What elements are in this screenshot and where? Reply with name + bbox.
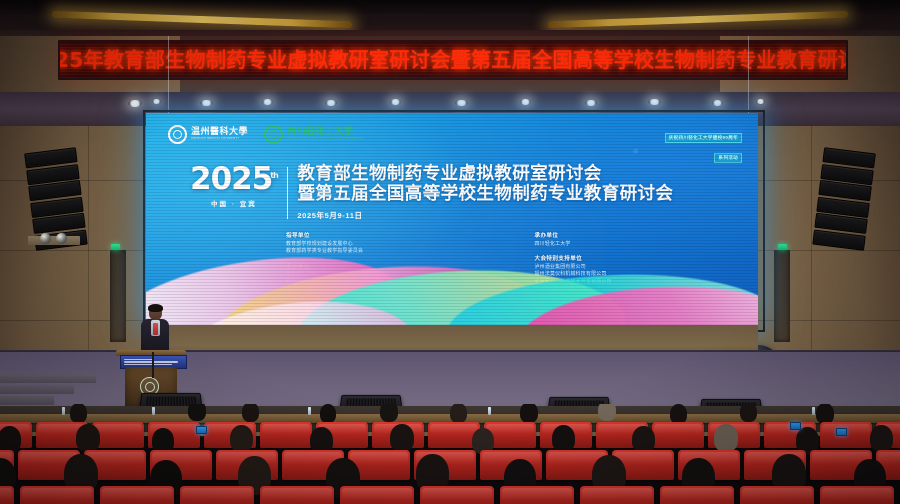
- downlight: [390, 99, 401, 105]
- downlight: [585, 100, 597, 106]
- downlight: [152, 99, 161, 104]
- downlight: [712, 100, 723, 106]
- audience-head: [598, 404, 616, 421]
- downlight: [128, 100, 142, 107]
- audience-head: [242, 404, 259, 422]
- wall-recess-right: [774, 250, 790, 342]
- audience-head: [76, 424, 100, 452]
- phone-screen: [836, 428, 847, 436]
- presenter-lanyard: [153, 323, 158, 335]
- ceiling-soffit: [0, 0, 900, 14]
- audience-head: [632, 426, 655, 453]
- microphone-stand: [152, 352, 154, 378]
- conference-hall-photo: 2025年教育部生物制药专业虚拟教研室研讨会暨第五届全国高等学校生物制药专业教育…: [0, 0, 900, 504]
- wall-recess-left: [110, 250, 126, 342]
- led-screen: 温州醫科大學 WENZHOU MEDICAL UNIVERSITY 四川轻化工大…: [146, 113, 758, 325]
- downlight: [520, 99, 531, 105]
- stage-spotlight: [40, 233, 51, 244]
- screen-scanlines: [146, 113, 758, 325]
- exit-sign-icon: [778, 244, 787, 250]
- water-bottle: [308, 407, 311, 415]
- stage-spotlight: [56, 233, 67, 244]
- water-bottle: [152, 407, 155, 415]
- audience-head: [552, 425, 575, 452]
- downlight: [200, 100, 213, 106]
- audience-head: [380, 404, 398, 422]
- downlight: [325, 100, 337, 106]
- water-bottle: [812, 407, 815, 415]
- exit-sign-icon: [111, 244, 120, 250]
- audience-head: [450, 404, 467, 423]
- downlight: [262, 99, 273, 105]
- audience-area: [0, 404, 900, 504]
- audience-head: [0, 426, 21, 453]
- audience-head: [670, 404, 687, 424]
- water-bottle: [62, 407, 65, 415]
- downlight: [756, 99, 765, 104]
- led-banner-text: 2025年教育部生物制药专业虚拟教研室研讨会暨第五届全国高等学校生物制药专业教育…: [58, 50, 848, 71]
- audience-head: [520, 404, 538, 423]
- stage-light-bar: [28, 236, 80, 245]
- audience-head: [390, 424, 414, 452]
- phone-screen: [790, 422, 801, 430]
- audience-head: [188, 404, 206, 421]
- audience-head: [70, 404, 87, 423]
- downlight: [455, 100, 468, 106]
- audience-head: [816, 404, 834, 424]
- audience-head: [714, 424, 738, 452]
- presenter-hair: [148, 304, 163, 312]
- audience-head: [740, 404, 757, 422]
- audience-head: [870, 425, 893, 452]
- audience-head: [320, 404, 336, 423]
- audience-head: [230, 425, 253, 452]
- led-banner: 2025年教育部生物制药专业虚拟教研室研讨会暨第五届全国高等学校生物制药专业教育…: [58, 40, 848, 80]
- downlight: [648, 99, 661, 105]
- water-bottle: [488, 407, 491, 415]
- phone-screen: [196, 426, 207, 434]
